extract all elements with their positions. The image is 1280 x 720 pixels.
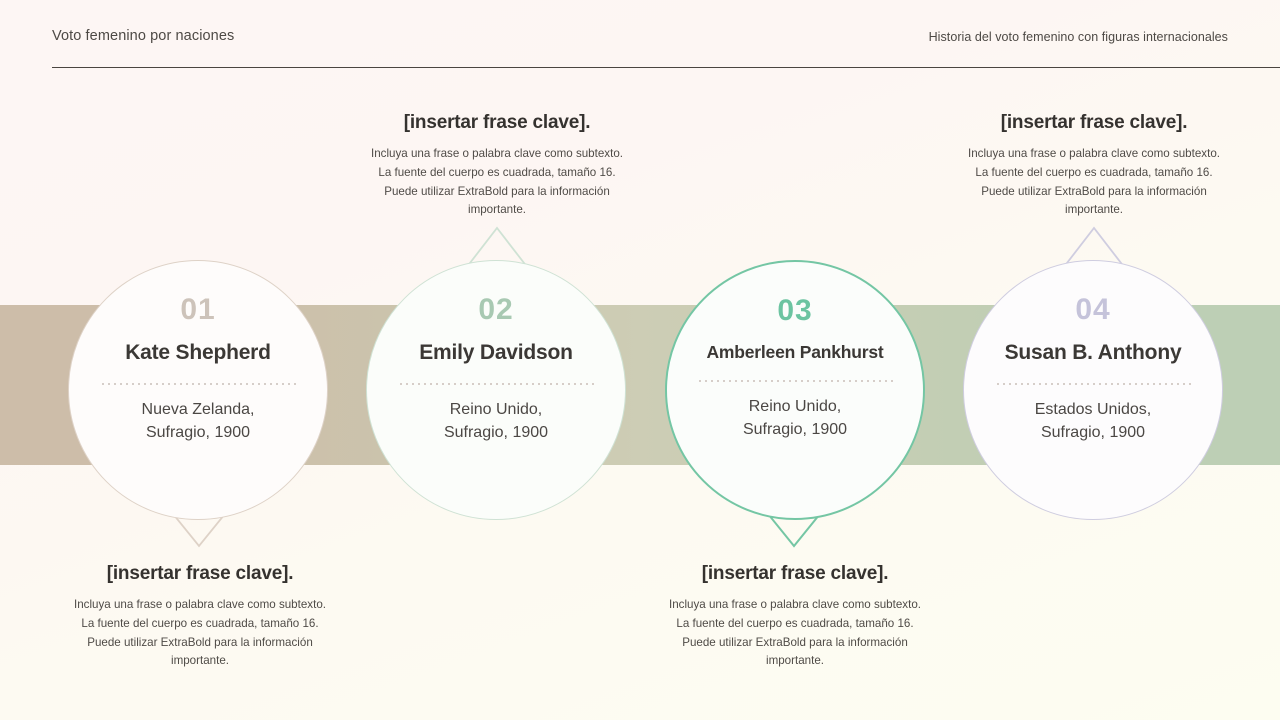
caption-body-line: Incluya una frase o palabra clave como s…	[347, 145, 647, 164]
page-title: Voto femenino por naciones	[52, 28, 234, 44]
person-meta: Nueva Zelanda, Sufragio, 1900	[142, 399, 255, 444]
caption-body: Incluya una frase o palabra clave como s…	[944, 145, 1244, 220]
caption-body: Incluya una frase o palabra clave como s…	[645, 596, 945, 671]
caption-body-line: Incluya una frase o palabra clave como s…	[645, 596, 945, 615]
caption-body-line: importante.	[944, 201, 1244, 220]
caption-title: [insertar frase clave].	[645, 563, 945, 585]
caption-block-4: [insertar frase clave]. Incluya una fras…	[944, 112, 1244, 220]
caption-body-line: La fuente del cuerpo es cuadrada, tamaño…	[645, 615, 945, 634]
person-meta-line: Sufragio, 1900	[444, 422, 548, 445]
person-meta-line: Nueva Zelanda,	[142, 399, 255, 422]
person-name: Kate Shepherd	[125, 341, 271, 365]
circle-number: 01	[180, 295, 215, 325]
caption-body-line: Puede utilizar ExtraBold para la informa…	[645, 634, 945, 653]
caption-body-line: La fuente del cuerpo es cuadrada, tamaño…	[347, 164, 647, 183]
person-meta: Estados Unidos, Sufragio, 1900	[1035, 399, 1152, 444]
circle-number: 03	[777, 296, 812, 326]
caption-body-line: importante.	[347, 201, 647, 220]
person-name: Emily Davidson	[419, 341, 573, 365]
caption-body-line: La fuente del cuerpo es cuadrada, tamaño…	[944, 164, 1244, 183]
profile-circle-3[interactable]: 03 Amberleen Pankhurst Reino Unido, Sufr…	[665, 260, 925, 520]
profile-circle-4[interactable]: 04 Susan B. Anthony Estados Unidos, Sufr…	[963, 260, 1223, 520]
divider-dotted	[697, 380, 893, 382]
caption-body-line: Incluya una frase o palabra clave como s…	[50, 596, 350, 615]
divider-dotted	[398, 383, 594, 385]
caption-block-2: [insertar frase clave]. Incluya una fras…	[347, 112, 647, 220]
person-meta-line: Sufragio, 1900	[1035, 422, 1152, 445]
person-meta-line: Reino Unido,	[743, 396, 847, 419]
circle-number: 02	[478, 295, 513, 325]
caption-body: Incluya una frase o palabra clave como s…	[347, 145, 647, 220]
divider-dotted	[995, 383, 1191, 385]
caption-title: [insertar frase clave].	[50, 563, 350, 585]
caption-block-3: [insertar frase clave]. Incluya una fras…	[645, 563, 945, 671]
profile-circle-1[interactable]: 01 Kate Shepherd Nueva Zelanda, Sufragio…	[68, 260, 328, 520]
caption-body-line: Puede utilizar ExtraBold para la informa…	[50, 634, 350, 653]
page-subtitle: Historia del voto femenino con figuras i…	[929, 28, 1280, 44]
circle-number: 04	[1075, 295, 1110, 325]
caption-body-line: Incluya una frase o palabra clave como s…	[944, 145, 1244, 164]
person-meta-line: Sufragio, 1900	[142, 422, 255, 445]
caption-body-line: Puede utilizar ExtraBold para la informa…	[944, 183, 1244, 202]
caption-body-line: importante.	[50, 652, 350, 671]
person-meta-line: Sufragio, 1900	[743, 419, 847, 442]
caption-block-1: [insertar frase clave]. Incluya una fras…	[50, 563, 350, 671]
person-name: Susan B. Anthony	[1005, 341, 1182, 365]
caption-body-line: importante.	[645, 652, 945, 671]
caption-body: Incluya una frase o palabra clave como s…	[50, 596, 350, 671]
caption-body-line: Puede utilizar ExtraBold para la informa…	[347, 183, 647, 202]
caption-title: [insertar frase clave].	[347, 112, 647, 134]
divider-dotted	[100, 383, 296, 385]
caption-title: [insertar frase clave].	[944, 112, 1244, 134]
person-name: Amberleen Pankhurst	[706, 342, 883, 362]
caption-body-line: La fuente del cuerpo es cuadrada, tamaño…	[50, 615, 350, 634]
person-meta: Reino Unido, Sufragio, 1900	[444, 399, 548, 444]
profile-circle-2[interactable]: 02 Emily Davidson Reino Unido, Sufragio,…	[366, 260, 626, 520]
person-meta-line: Estados Unidos,	[1035, 399, 1152, 422]
person-meta: Reino Unido, Sufragio, 1900	[743, 396, 847, 441]
page-header: Voto femenino por naciones Historia del …	[52, 28, 1280, 68]
person-meta-line: Reino Unido,	[444, 399, 548, 422]
